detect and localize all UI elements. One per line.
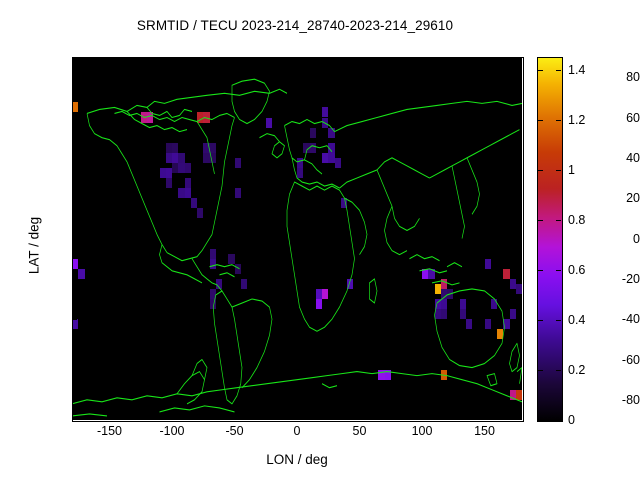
colorbar-tick-mark [538, 320, 543, 321]
colorbar-tick-mark [538, 420, 543, 421]
colorbar-tick-mark [556, 270, 561, 271]
colorbar-tick-label: 0.6 [568, 263, 585, 277]
x-axis-tick-label: -150 [80, 424, 140, 438]
y-axis-tick-mark [72, 279, 77, 280]
colorbar-tick-mark [538, 220, 543, 221]
x-axis-tick-label: 50 [330, 424, 390, 438]
colorbar-tick-label: 1.4 [568, 63, 585, 77]
y-axis-tick-mark [72, 360, 77, 361]
x-axis-tick-mark [235, 414, 236, 419]
y-axis-tick-label: -20 [576, 272, 640, 286]
y-axis-tick-label: 20 [576, 191, 640, 205]
x-axis-tick-mark [110, 414, 111, 419]
map-plot-area[interactable] [72, 57, 522, 420]
y-axis-label: LAT / deg [27, 186, 42, 306]
y-axis-tick-mark [72, 77, 77, 78]
colorbar-tick-label: 0.2 [568, 363, 585, 377]
y-axis-tick-label: -80 [576, 393, 640, 407]
x-axis-tick-label: 0 [267, 424, 327, 438]
x-axis-tick-label: -50 [205, 424, 265, 438]
x-axis-tick-mark [172, 414, 173, 419]
y-axis-tick-mark [72, 198, 77, 199]
colorbar-tick-mark [556, 120, 561, 121]
colorbar-tick-label: 0.8 [568, 213, 585, 227]
x-axis-tick-mark [297, 414, 298, 419]
colorbar-tick-label: 0.4 [568, 313, 585, 327]
colorbar-tick-mark [556, 370, 561, 371]
colorbar-tick-mark [538, 270, 543, 271]
colorbar-tick-mark [556, 170, 561, 171]
page-title: SRMTID / TECU 2023-214_28740-2023-214_29… [0, 18, 590, 33]
colorbar-tick-label: 1.2 [568, 113, 585, 127]
colorbar [537, 57, 563, 422]
chart-root: SRMTID / TECU 2023-214_28740-2023-214_29… [0, 0, 640, 480]
y-axis-tick-mark [72, 239, 77, 240]
x-axis-tick-mark [360, 414, 361, 419]
x-axis-tick-label: 100 [392, 424, 452, 438]
colorbar-tick-mark [556, 70, 561, 71]
y-axis-tick-label: -60 [576, 353, 640, 367]
y-axis-tick-label: 0 [576, 232, 640, 246]
coastline-layer [72, 57, 522, 420]
y-axis-tick-label: 40 [576, 151, 640, 165]
x-axis-tick-mark [485, 414, 486, 419]
colorbar-tick-mark [538, 370, 543, 371]
colorbar-tick-mark [538, 170, 543, 171]
y-axis-tick-mark [72, 158, 77, 159]
colorbar-tick-mark [538, 70, 543, 71]
x-axis-tick-label: -100 [142, 424, 202, 438]
colorbar-tick-mark [556, 320, 561, 321]
colorbar-tick-label: 0 [568, 413, 575, 427]
y-axis-tick-label: 60 [576, 111, 640, 125]
colorbar-tick-mark [556, 420, 561, 421]
x-axis-tick-label: 150 [455, 424, 515, 438]
y-axis-tick-mark [72, 400, 77, 401]
colorbar-gradient [538, 58, 562, 421]
colorbar-tick-mark [538, 120, 543, 121]
x-axis-tick-mark [422, 414, 423, 419]
y-axis-tick-label: 80 [576, 70, 640, 84]
colorbar-tick-mark [556, 220, 561, 221]
x-axis-label: LON / deg [72, 452, 522, 467]
colorbar-tick-label: 1 [568, 163, 575, 177]
y-axis-tick-mark [72, 319, 77, 320]
y-axis-tick-mark [72, 118, 77, 119]
y-axis-tick-label: -40 [576, 312, 640, 326]
